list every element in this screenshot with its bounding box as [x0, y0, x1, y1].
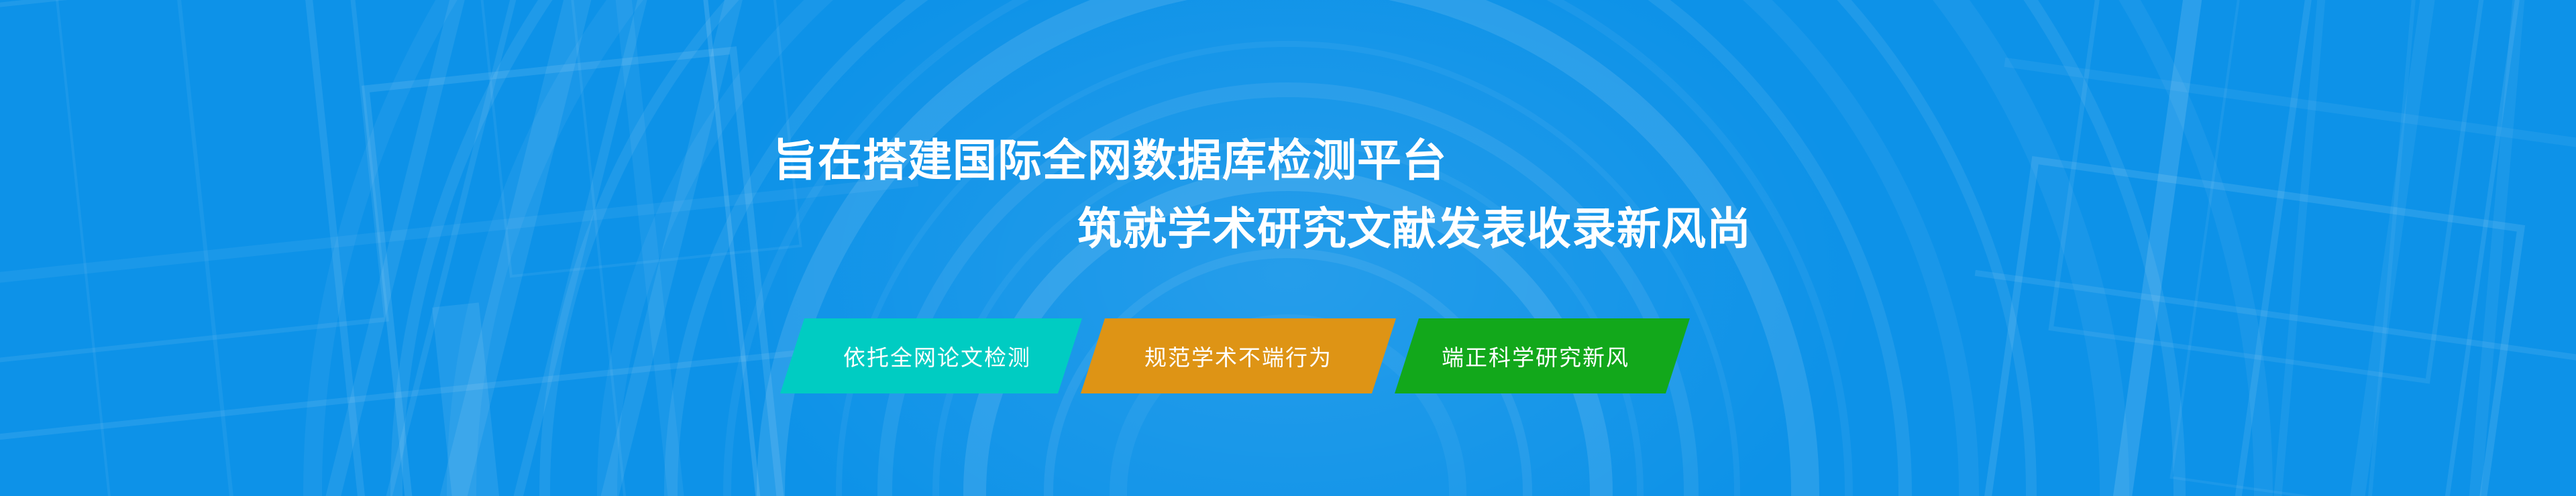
badge-label: 规范学术不端行为 [1144, 340, 1332, 372]
grid-rect [2048, 0, 2489, 384]
diagonal-slashes-left [429, 0, 1033, 496]
headline-line-1: 旨在搭建国际全网数据库检测平台 [773, 138, 1447, 182]
grid-line [294, 0, 385, 496]
grid-line [2090, 0, 2226, 496]
grid-pattern-left [0, 0, 965, 496]
slash-line [291, 0, 484, 496]
slash-line [566, 0, 761, 496]
grid-rect [362, 46, 793, 496]
grid-line [2459, 0, 2530, 496]
grid-line [2323, 0, 2455, 496]
badge-paper-detection[interactable]: 依托全网论文检测 [780, 318, 1082, 393]
hero-banner: 旨在搭建国际全网数据库检测平台 筑就学术研究文献发表收录新风尚 依托全网论文检测… [0, 0, 2576, 496]
feature-badge-strip: 依托全网论文检测 规范学术不端行为 端正科学研究新风 [780, 318, 1827, 393]
slash-line [352, 0, 536, 496]
slash-line [479, 0, 667, 496]
badge-label: 端正科学研究新风 [1442, 340, 1629, 372]
grid-line [167, 0, 255, 496]
grid-rect [2169, 0, 2576, 496]
slash-line [405, 0, 610, 496]
ring-arc [836, 41, 1740, 496]
grid-line [0, 176, 918, 292]
grid-rect [51, 0, 627, 496]
grid-line [432, 302, 518, 496]
grid-line [1975, 270, 2576, 379]
grid-line [2359, 0, 2422, 496]
badge-research-ethics[interactable]: 端正科学研究新风 [1395, 318, 1690, 393]
grid-line [688, 0, 776, 496]
grid-pattern-right [1924, 0, 2576, 496]
grid-rect [0, 0, 389, 366]
grid-pattern-far-right [2239, 0, 2576, 496]
grid-rect [1965, 156, 2525, 496]
grid-line [2416, 0, 2537, 496]
grid-line [2265, 0, 2332, 496]
grid-line [600, 0, 700, 496]
badge-label: 依托全网论文检测 [843, 340, 1031, 372]
grid-line [2210, 0, 2333, 496]
badge-academic-misconduct[interactable]: 规范学术不端行为 [1081, 318, 1396, 393]
ring-arc [932, 137, 1644, 496]
headline-line-2: 筑就学术研究文献发表收录新风尚 [1077, 206, 1752, 251]
grid-rect [464, 0, 802, 277]
grid-line [2004, 58, 2576, 170]
